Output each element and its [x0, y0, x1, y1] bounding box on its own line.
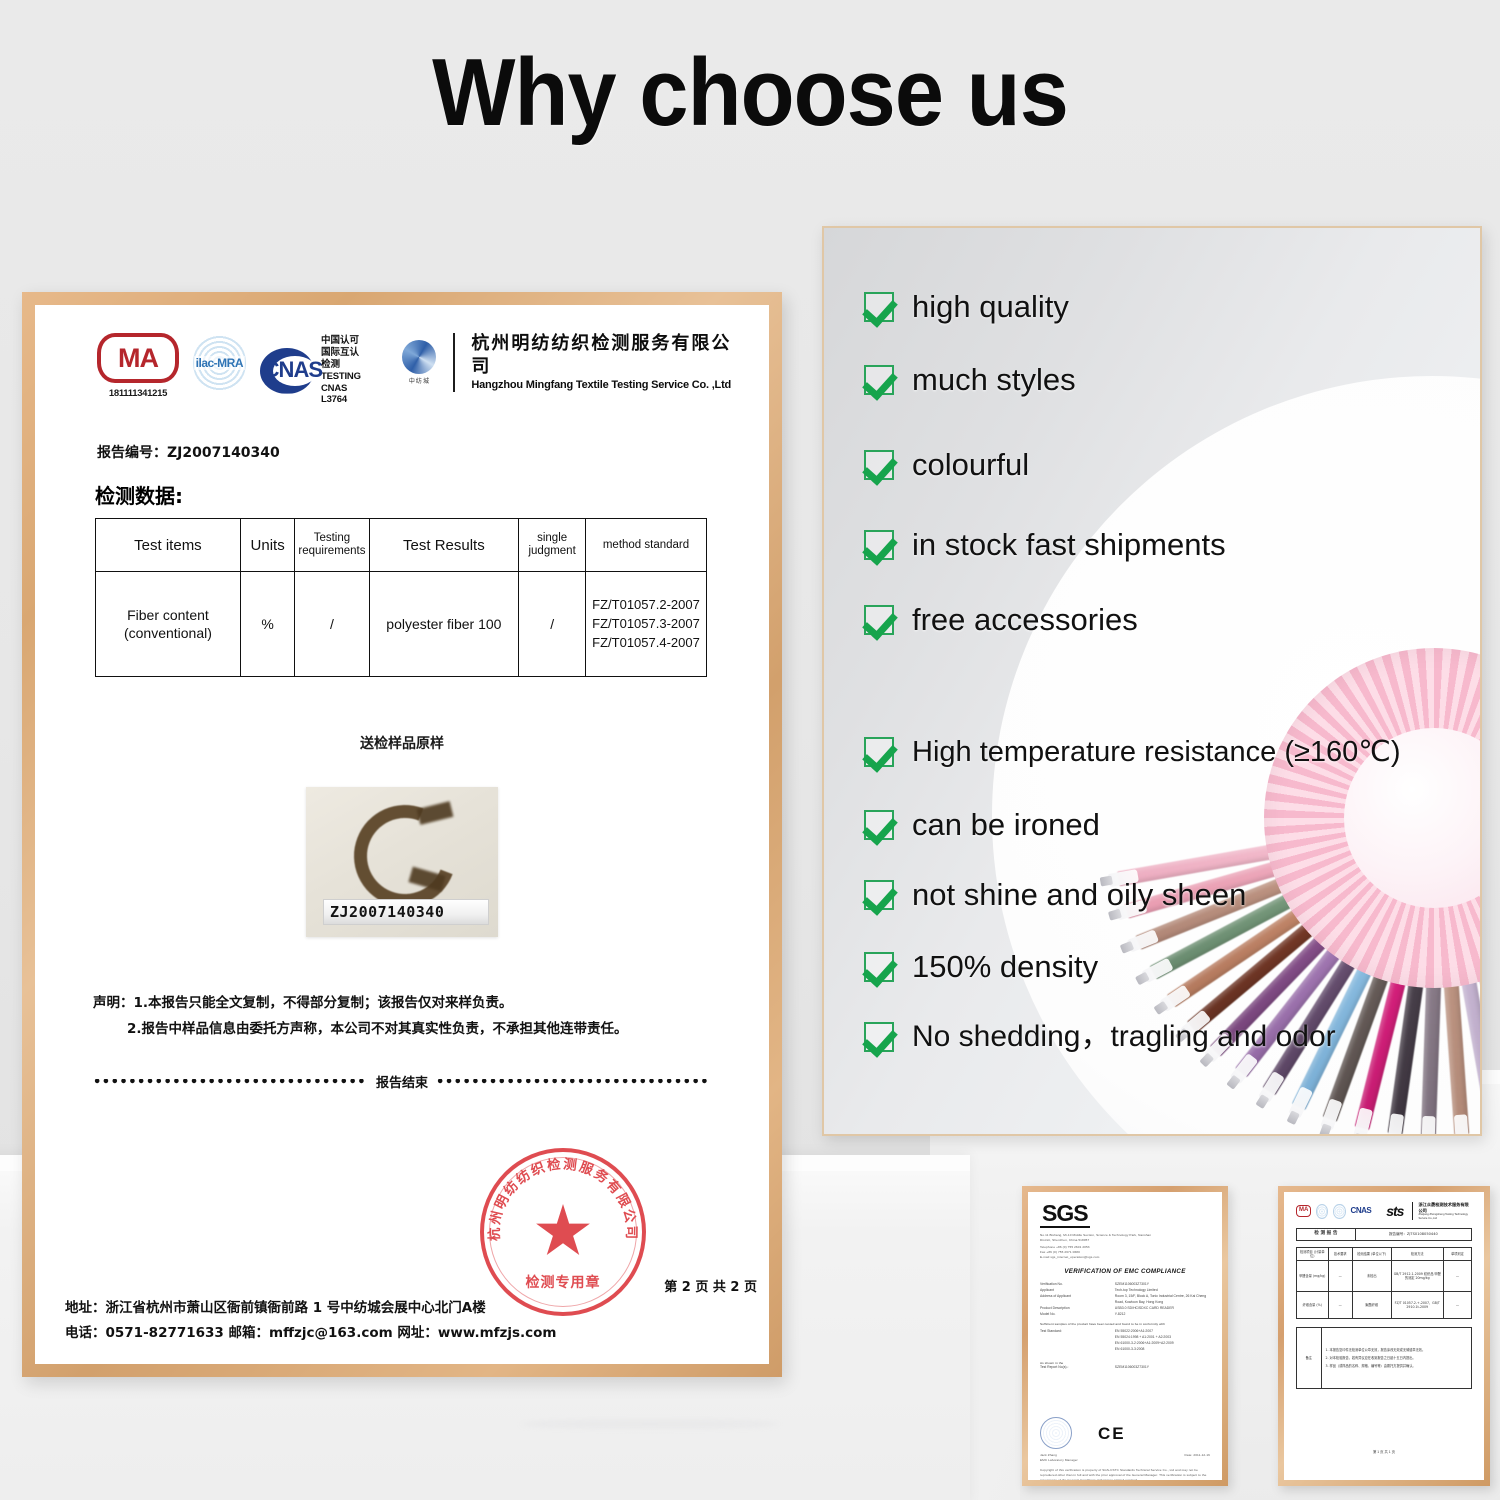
zft-icon: 中 纺 城 [400, 340, 437, 386]
table-row: 检 测 报 告 报告编号：ZJTS0108050440 [1297, 1229, 1472, 1240]
section-title-test-data: 检测数据: [95, 486, 739, 506]
method-standard-1: FZ/T01057.2-2007 [589, 596, 703, 615]
th-requirement: 技术要求 [1328, 1247, 1353, 1261]
sts-company-block: 浙江众晟检测技术服务有限公司 Zhejiang Zhongsheng Testi… [1412, 1202, 1472, 1220]
th-testing-requirements: Testing requirements [295, 519, 369, 572]
certificate-frame-main: MA 181111341215 ilac-MRA CNAS 中国认可 国际互认 … [22, 292, 782, 1377]
sgs-email: E-mail sgs_internet_operation@sgs.com [1040, 1255, 1210, 1260]
standard-4: EN 61000-3-3:2008 [1115, 1347, 1210, 1353]
dots-right: •••••••••••••••••••••••••••••••••••••••• [436, 1079, 711, 1087]
value: EN 55022:2006+A1:2007 EN 55024:1998 + A1… [1115, 1329, 1210, 1353]
th-item: 检测项目 (计量单位) [1297, 1247, 1329, 1261]
td-item: 纤维含量 (%) [1297, 1292, 1329, 1319]
check-icon [864, 1022, 894, 1052]
sgs-conformity-note: Sufficient samples of the product have b… [1040, 1322, 1210, 1327]
th-method-standard: method standard [586, 519, 707, 572]
table-header-row: Test items Units Testing requirements Te… [96, 519, 707, 572]
features-panel: high quality much styles colourful in st… [822, 226, 1482, 1136]
check-icon [864, 365, 894, 395]
sgs-test-report: Test Report No(s).:SZEM1106003Z7301Y [1040, 1365, 1210, 1371]
td-result: 聚酯纤维 [1353, 1292, 1392, 1319]
footer-email: 邮箱：mffzjc@163.com [229, 1325, 393, 1341]
company-name-block: 杭州明纺纺织检测服务有限公司 Hangzhou Mingfang Textile… [471, 333, 733, 392]
note-2: 2. 对本检验报告，若有异议应在收到报告之日起十五日内提出。 [1326, 1356, 1468, 1360]
feature-item-colourful: colourful [864, 448, 1029, 483]
th-single-judgment: single judgment [519, 519, 586, 572]
test-data-table: Test items Units Testing requirements Te… [95, 518, 707, 677]
sample-label-strip: ZJ2007140340 [323, 899, 489, 925]
sts-company-en: Zhejiang Zhongsheng Testing Technology S… [1418, 1213, 1472, 1220]
td-result: 未检出 [1353, 1261, 1392, 1292]
poster-canvas: Why choose us MA 181111341215 ilac-MRA C… [0, 0, 1500, 1500]
th-method: 检测方法 [1391, 1247, 1444, 1261]
feature-label: No shedding，tragling and odor [912, 1020, 1336, 1054]
footer-contacts: 电话：0571-82771633 邮箱：mffzjc@163.com 网址：ww… [65, 1321, 743, 1346]
sample-label-text: ZJ2007140340 [330, 905, 444, 920]
ilac-mra-icon-mini [1316, 1204, 1328, 1219]
td-test-results: polyester fiber 100 [369, 572, 519, 677]
feature-item-not-shine-and-oily-sheen: not shine and oily sheen [864, 878, 1246, 913]
td-method-standard: FZ/T01057.2-2007 FZ/T01057.3-2007 FZ/T01… [586, 572, 707, 677]
sgs-heading: VERIFICATION OF EMC COMPLIANCE [1040, 1269, 1210, 1275]
feature-item-free-accessories: free accessories [864, 603, 1138, 638]
sgs-footer-1: Copyright of this verification is proper… [1040, 1468, 1210, 1480]
page-title: Why choose us [60, 38, 1440, 148]
company-logo-block: 中 纺 城 杭州明纺纺织检测服务有限公司 Hangzhou Mingfang T… [400, 333, 733, 392]
zft-swirl-icon [402, 340, 436, 374]
feature-label: not shine and oily sheen [912, 878, 1246, 913]
sgs-row-address: Address of ApplicantRoom 3, 15/F, Block … [1040, 1294, 1210, 1306]
feature-label: colourful [912, 448, 1029, 483]
cnas-testing: TESTING [321, 371, 372, 383]
feature-item-high-quality: high quality [864, 290, 1069, 325]
th-judgment: 单项判定 [1444, 1247, 1472, 1261]
check-icon [864, 810, 894, 840]
table-row: 纤维含量 (%) — 聚酯纤维 FZ/T 01057.2-+-2007、GB/T… [1297, 1292, 1472, 1319]
sgs-sheet: SGS No.11 Bishang, Mi-10 Middle Section,… [1028, 1192, 1222, 1480]
value: Y-8212 [1115, 1312, 1210, 1318]
cnas-logo: CNAS 中国认可 国际互认 检测 TESTING CNAS L3764 [260, 335, 372, 406]
feature-label: 150% density [912, 950, 1098, 985]
check-icon [864, 737, 894, 767]
accreditation-logos: MA 181111341215 ilac-MRA CNAS 中国认可 国际互认 … [65, 323, 739, 412]
report-end-text: 报告结束 [376, 1077, 428, 1090]
declaration-line-1: 1.本报告只能全文复制，不得部分复制；该报告仅对来样负责。 [134, 995, 513, 1011]
sample-caption: 送检样品原样 [65, 737, 739, 751]
feature-item-in-stock-fast-shipments: in stock fast shipments [864, 528, 1226, 563]
cnas-cn-3: 检测 [321, 359, 372, 371]
sts-page-footer: 第 1 页 共 1 页 [1296, 1449, 1472, 1454]
sts-title-table: 检 测 报 告 报告编号：ZJTS0108050440 [1296, 1228, 1472, 1240]
sts-report-no: 报告编号：ZJTS0108050440 [1355, 1229, 1471, 1240]
check-icon [864, 605, 894, 635]
mini-certificate-sts: MA CNAS sts 浙江众晟检测技术服务有限公司 Zhejiang Zhon… [1278, 1186, 1490, 1486]
sgs-row-model: Model No.Y-8212 [1040, 1312, 1210, 1318]
table-row: 甲醛含量 (mg/kg) — 未检出 GB/T 2912.1-2009 纺织品 … [1297, 1261, 1472, 1292]
td-single-judgment: / [519, 572, 586, 677]
signature-stamp-icon [1040, 1417, 1072, 1449]
cnas-cn-1: 中国认可 [321, 335, 372, 347]
ilac-mra-text: ilac-MRA [194, 356, 245, 370]
table-row: 备注 1. 本报告复印件无检测单位公章无效，报告涂改无效或无骑缝章无效。 2. … [1297, 1328, 1472, 1389]
certificate-page: MA 181111341215 ilac-MRA CNAS 中国认可 国际互认 … [35, 305, 769, 1364]
check-icon [864, 952, 894, 982]
th-result: 检测结果 (单位以下) [1353, 1247, 1392, 1261]
report-end-line: ••••••••••••••••••••••••••••••••••••••••… [93, 1077, 711, 1090]
ce-mark-icon: CE [1098, 1425, 1126, 1442]
sts-title: 检 测 报 告 [1297, 1229, 1356, 1240]
sts-data-table: 检测项目 (计量单位) 技术要求 检测结果 (单位以下) 检测方法 单项判定 甲… [1296, 1247, 1472, 1320]
value: Room 3, 15/F, Block A, Tonic Industrial … [1115, 1294, 1210, 1306]
footer-phone: 电话：0571-82771633 [65, 1325, 224, 1341]
declaration-label: 声明： [93, 995, 134, 1011]
ma-logo-mini: MA [1296, 1205, 1311, 1217]
feature-label: High temperature resistance (≥160℃) [912, 736, 1401, 768]
feature-item-no-shedding: No shedding，tragling and odor [864, 1020, 1336, 1054]
page-number: 第 2 页 共 2 页 [664, 1281, 757, 1294]
td-item: 甲醛含量 (mg/kg) [1297, 1261, 1329, 1292]
official-red-stamp: 杭州明纺纺织检测服务有限公司 检测专用章 [480, 1148, 646, 1316]
logo-divider [453, 333, 455, 392]
footer-address: 地址：浙江省杭州市萧山区衙前镇衙前路 1 号中纺城会展中心北门A楼 [65, 1296, 743, 1321]
td-method: FZ/T 01057.2-+-2007、GB/T 2910.1t-2009 [1391, 1292, 1444, 1319]
check-icon [864, 450, 894, 480]
method-standard-3: FZ/T01057.4-2007 [589, 634, 703, 653]
sts-logo: sts [1386, 1204, 1403, 1218]
key: Address of Applicant [1040, 1294, 1115, 1306]
td-judgment: — [1444, 1292, 1472, 1319]
cnas-icon: CNAS [260, 348, 314, 394]
feature-item-high-temperature-resistance: High temperature resistance (≥160℃) [864, 736, 1401, 768]
td-judgment: — [1444, 1261, 1472, 1292]
sample-photo: ZJ2007140340 [306, 787, 498, 937]
check-icon [864, 880, 894, 910]
ma-logo: MA 181111341215 [97, 333, 179, 399]
key: Test Standard: [1040, 1329, 1115, 1353]
sgs-signer: Jack Zhang EMC Laboratory Manager [1040, 1453, 1078, 1462]
sts-logo-row: MA CNAS sts 浙江众晟检测技术服务有限公司 Zhejiang Zhon… [1296, 1202, 1472, 1220]
certificate-sheet: MA 181111341215 ilac-MRA CNAS 中国认可 国际互认 … [35, 305, 769, 1364]
cnas-icon-mini [1333, 1204, 1345, 1219]
signer-title: EMC Laboratory Manager [1040, 1458, 1078, 1463]
cnas-details: 中国认可 国际互认 检测 TESTING CNAS L3764 [321, 335, 372, 406]
feature-item-150-density: 150% density [864, 950, 1098, 985]
feature-label: high quality [912, 290, 1069, 325]
cnas-cn-2: 国际互认 [321, 347, 372, 359]
feature-label: can be ironed [912, 808, 1100, 843]
th-test-results: Test Results [369, 519, 519, 572]
td-requirement: — [1328, 1292, 1353, 1319]
check-icon [864, 292, 894, 322]
sgs-test-standard: Test Standard: EN 55022:2006+A1:2007 EN … [1040, 1329, 1210, 1353]
dots-left: •••••••••••••••••••••••••••••••••••••••• [93, 1079, 368, 1087]
td-notes: 1. 本报告复印件无检测单位公章无效，报告涂改无效或无骑缝章无效。 2. 对本检… [1321, 1328, 1472, 1389]
feature-item-much-styles: much styles [864, 363, 1076, 398]
td-test-item: Fiber content (conventional) [96, 572, 241, 677]
sgs-signer-row: Jack Zhang EMC Laboratory Manager Date: … [1040, 1453, 1210, 1462]
sts-sheet: MA CNAS sts 浙江众晟检测技术服务有限公司 Zhejiang Zhon… [1284, 1192, 1484, 1480]
sgs-signature-row: CE [1040, 1417, 1210, 1449]
cnas-code: CNAS L3764 [321, 383, 372, 407]
feature-label: in stock fast shipments [912, 528, 1226, 563]
sts-notes-table: 备注 1. 本报告复印件无检测单位公章无效，报告涂改无效或无骑缝章无效。 2. … [1296, 1327, 1472, 1389]
zft-caption: 中 纺 城 [409, 376, 429, 385]
key: Test Report No(s).: [1040, 1365, 1115, 1371]
method-standard-2: FZ/T01057.3-2007 [589, 615, 703, 634]
table-row: Fiber content (conventional) % / polyest… [96, 572, 707, 677]
ma-logo-text: MA [97, 333, 179, 383]
marble-vein [520, 1420, 780, 1428]
certificate-footer: 地址：浙江省杭州市萧山区衙前镇衙前路 1 号中纺城会展中心北门A楼 电话：057… [65, 1296, 743, 1346]
key: Model No. [1040, 1312, 1115, 1318]
sgs-date: Date: 2011-12-16 [1185, 1453, 1210, 1462]
td-testing-requirements: / [295, 572, 369, 677]
sgs-address: No.11 Bishang, Mi-10 Middle Section, Sci… [1040, 1233, 1210, 1259]
td-units: % [240, 572, 295, 677]
td-requirement: — [1328, 1261, 1353, 1292]
footer-website: 网址：www.mfzjs.com [397, 1325, 556, 1341]
note-3: 3. 样品（或样品的名称、规格、编号等）由委托方提供并确认。 [1326, 1364, 1468, 1368]
cnas-logo-mini: CNAS [1351, 1207, 1372, 1215]
feature-label: much styles [912, 363, 1076, 398]
stamp-subtitle: 检测专用章 [484, 1276, 642, 1290]
th-test-items: Test items [96, 519, 241, 572]
company-name-en: Hangzhou Mingfang Textile Testing Servic… [471, 378, 733, 392]
table-header-row: 检测项目 (计量单位) 技术要求 检测结果 (单位以下) 检测方法 单项判定 [1297, 1247, 1472, 1261]
value: SZEM1106003Z7301Y [1115, 1365, 1210, 1371]
td-method: GB/T 2912.1-2009 纺织品 甲醛的测定 20mg/kg [1391, 1261, 1444, 1292]
feature-item-can-be-ironed: can be ironed [864, 808, 1100, 843]
ma-logo-number: 181111341215 [109, 388, 167, 399]
th-units: Units [240, 519, 295, 572]
mini-certificate-sgs: SGS No.11 Bishang, Mi-10 Middle Section,… [1022, 1186, 1228, 1486]
declaration-block: 声明：1.本报告只能全文复制，不得部分复制；该报告仅对来样负责。 2.报告中样品… [93, 991, 739, 1042]
cnas-logo-text: CNAS [264, 359, 322, 381]
report-number: 报告编号：ZJ2007140340 [97, 446, 739, 460]
company-name-cn: 杭州明纺纺织检测服务有限公司 [471, 333, 733, 378]
check-icon [864, 530, 894, 560]
sgs-logo: SGS [1040, 1202, 1090, 1228]
feature-label: free accessories [912, 603, 1138, 638]
sgs-address-2: District, Shenzhen, China 518057 [1040, 1238, 1210, 1243]
td-note-label: 备注 [1297, 1328, 1322, 1389]
note-1: 1. 本报告复印件无检测单位公章无效，报告涂改无效或无骑缝章无效。 [1326, 1348, 1468, 1352]
sts-company-cn: 浙江众晟检测技术服务有限公司 [1418, 1202, 1472, 1213]
declaration-line-2: 2.报告中样品信息由委托方声称，本公司不对其真实性负责，不承担其他连带责任。 [127, 1017, 739, 1043]
ilac-mra-icon: ilac-MRA [193, 334, 246, 392]
